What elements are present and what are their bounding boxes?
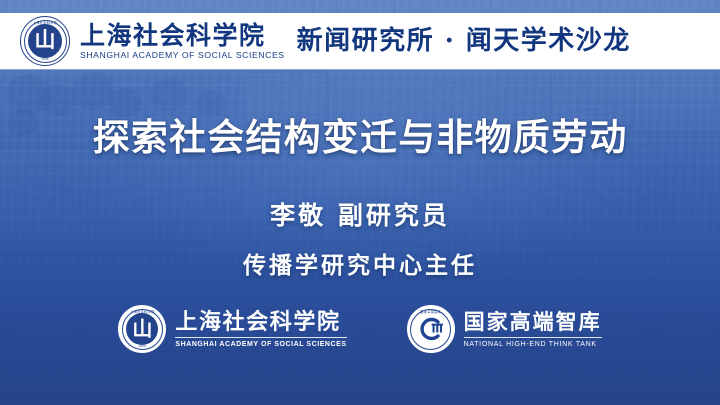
- presentation-slide: 上海社会科学院 山 1958 上海社会科学院 SHANGHAI ACADEMY …: [0, 0, 720, 405]
- footer-logo-sass: 上海社会科学院 山 1958 上海社会科学院 SHANGHAI ACADEMY …: [118, 305, 346, 353]
- presenter-block: 李敬 副研究员 传播学研究中心主任: [0, 196, 720, 286]
- seal-year-text: 1958: [41, 57, 48, 61]
- footer-logo-bar: 上海社会科学院 山 1958 上海社会科学院 SHANGHAI ACADEMY …: [0, 298, 720, 360]
- sass-seal-icon: 上海社会科学院 山 1958: [118, 305, 166, 353]
- seal-mark-glyph: 山: [35, 30, 56, 51]
- seal-year-text: 1958: [139, 344, 146, 348]
- slide-title: 探索社会结构变迁与非物质劳动: [0, 116, 720, 160]
- header-bar: 上海社会科学院 山 1958 上海社会科学院 SHANGHAI ACADEMY …: [0, 13, 720, 69]
- brand-name-en: SHANGHAI ACADEMY OF SOCIAL SCIENCES: [80, 50, 285, 60]
- footer-logo-rule: [464, 337, 602, 338]
- think-tank-c-glyph: [418, 316, 444, 342]
- footer-logo-think-tank: 国家高端智库 国家高端智库 NATIONAL HIGH-END THINK TA…: [407, 305, 602, 353]
- seal-mark-glyph: 山: [132, 319, 152, 339]
- footer-logo-en-sass: SHANGHAI ACADEMY OF SOCIAL SCIENCES: [175, 340, 346, 349]
- think-tank-seal-icon: 国家高端智库: [407, 305, 455, 353]
- presenter-role: 传播学研究中心主任: [0, 246, 720, 286]
- sass-seal-icon: 上海社会科学院 山 1958: [20, 16, 70, 66]
- footer-logo-rule: [175, 337, 346, 338]
- presenter-name: 李敬 副研究员: [270, 201, 450, 230]
- brand-name-cn: 上海社会科学院: [80, 22, 281, 49]
- header-content: 上海社会科学院 山 1958 上海社会科学院 SHANGHAI ACADEMY …: [0, 16, 631, 66]
- brand-lockup: 上海社会科学院 SHANGHAI ACADEMY OF SOCIAL SCIEN…: [80, 22, 281, 60]
- footer-logo-text-sass: 上海社会科学院 SHANGHAI ACADEMY OF SOCIAL SCIEN…: [175, 310, 346, 349]
- salon-title: 新闻研究所 · 闻天学术沙龙: [297, 26, 631, 56]
- footer-logo-cn-think-tank: 国家高端智库: [464, 310, 602, 335]
- footer-logo-text-think-tank: 国家高端智库 NATIONAL HIGH-END THINK TANK: [464, 310, 602, 349]
- footer-logo-cn-sass: 上海社会科学院: [175, 310, 346, 335]
- footer-logo-en-think-tank: NATIONAL HIGH-END THINK TANK: [464, 340, 602, 349]
